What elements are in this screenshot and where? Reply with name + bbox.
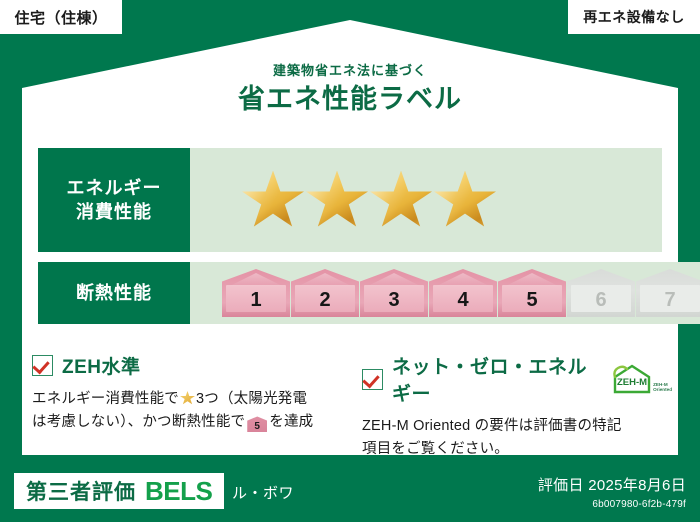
insulation-key-line1: 断熱性能: [76, 281, 152, 305]
insulation-grade-house: 5: [498, 269, 566, 317]
insulation-performance-key: 断熱性能: [38, 262, 190, 324]
net-zero-energy-title: ネット・ゼロ・エネルギー: [392, 352, 597, 406]
bels-badge-en: BELS: [145, 476, 212, 507]
grade-number: 7: [664, 289, 675, 312]
grade-number: 6: [595, 289, 606, 312]
grade-number: 1: [250, 289, 261, 312]
grade-number: 4: [457, 289, 468, 312]
zeh-m-logo-subtext: ZEH-M Oriented: [653, 382, 672, 392]
checkmark-icon: [362, 369, 383, 390]
zeh-standard-body: エネルギー消費性能で3つ（太陽光発電 は考慮しない）、かつ断熱性能で5を達成: [32, 388, 332, 435]
insulation-grade-house: 2: [291, 269, 359, 317]
insulation-performance-row: 断熱性能 1 2 3 4 5 6 7: [38, 262, 662, 324]
zeh-standard-title: ZEH水準: [62, 352, 141, 379]
zeh-standard-header: ZEH水準: [32, 352, 332, 379]
company-name: ル・ボワ: [232, 482, 294, 503]
zeh-body-part2: は考慮しない）、かつ断熱性能で: [32, 414, 245, 430]
inline-star-icon: [180, 391, 195, 405]
energy-key-line1: エネルギー: [67, 176, 162, 200]
star-icon: [242, 171, 304, 230]
energy-star-rating: [190, 148, 662, 252]
zeh-body-part1: エネルギー消費性能で: [32, 391, 179, 407]
title-subtitle: 建築物省エネ法に基づく: [0, 64, 700, 77]
insulation-grade-scale: 1 2 3 4 5 6 7: [190, 262, 700, 324]
checkmark-icon: [32, 355, 53, 376]
zeh-m-logo: ZEH-M ZEH-M Oriented: [612, 364, 672, 394]
net-zero-body-line1: ZEH-M Oriented の要件は評価書の特記: [362, 418, 622, 434]
zeh-m-house-icon: ZEH-M: [612, 364, 652, 394]
bels-badge: 第三者評価 BELS: [14, 473, 224, 509]
zeh-m-sub-line2: Oriented: [653, 387, 672, 392]
page-title: 省エネ性能ラベル: [0, 86, 700, 113]
star-icon: [434, 171, 496, 230]
star-icon: [306, 171, 368, 230]
footer-band: 第三者評価 BELS ル・ボワ 評価日 2025年8月6日 6b007980-6…: [0, 455, 700, 522]
zeh-standard-claim: ZEH水準 エネルギー消費性能で3つ（太陽光発電 は考慮しない）、かつ断熱性能で…: [32, 352, 332, 435]
grade-number: 5: [526, 289, 537, 312]
zeh-body-star-count: 3つ（太陽光発電: [196, 391, 307, 407]
zeh-body-part3: を達成: [269, 414, 313, 430]
inline-house-icon: 5: [247, 416, 267, 432]
insulation-grade-house: 4: [429, 269, 497, 317]
energy-performance-label: 住宅（住棟） 再エネ設備なし 建築物省エネ法に基づく 省エネ性能ラベル エネルギ…: [0, 0, 700, 522]
net-zero-energy-claim: ネット・ゼロ・エネルギー ZEH-M ZEH-M Oriented ZEH-M …: [362, 352, 672, 462]
energy-performance-row: エネルギー 消費性能: [38, 148, 662, 252]
insulation-grade-house: 7: [636, 269, 700, 317]
net-zero-energy-header: ネット・ゼロ・エネルギー ZEH-M ZEH-M Oriented: [362, 352, 672, 406]
evaluation-id: 6b007980-6f2b-479f: [538, 499, 686, 510]
bels-badge-jp: 第三者評価: [26, 476, 136, 506]
grade-number: 2: [319, 289, 330, 312]
energy-performance-key: エネルギー 消費性能: [38, 148, 190, 252]
evaluation-date: 評価日 2025年8月6日: [538, 474, 686, 495]
insulation-grade-house: 3: [360, 269, 428, 317]
building-type-tag: 住宅（住棟）: [0, 0, 122, 34]
insulation-grade-house: 1: [222, 269, 290, 317]
star-icon: [370, 171, 432, 230]
renewable-energy-tag: 再エネ設備なし: [568, 0, 700, 34]
svg-text:ZEH-M: ZEH-M: [617, 377, 647, 388]
label-title-block: 建築物省エネ法に基づく 省エネ性能ラベル: [0, 64, 700, 113]
energy-key-line2: 消費性能: [76, 200, 152, 224]
grade-number: 3: [388, 289, 399, 312]
insulation-grade-house: 6: [567, 269, 635, 317]
evaluation-info: 評価日 2025年8月6日 6b007980-6f2b-479f: [538, 474, 686, 510]
